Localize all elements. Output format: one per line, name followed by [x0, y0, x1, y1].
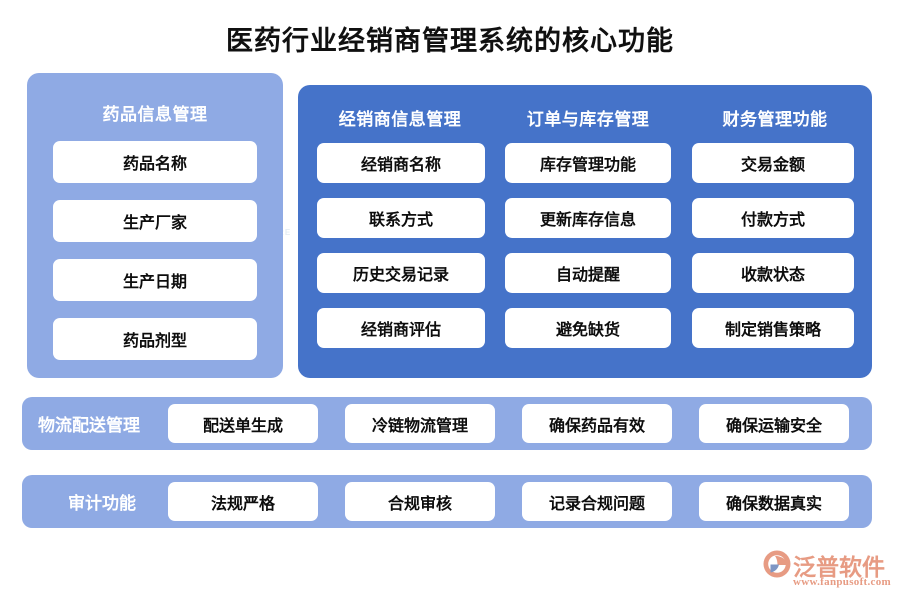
row-label-audit: 审计功能 [68, 475, 136, 528]
fanpu-logo-icon [762, 549, 792, 579]
card-manufacturer[interactable]: 生产厂家 [53, 200, 257, 242]
card-delivery-note[interactable]: 配送单生成 [168, 404, 318, 443]
card-sales-strategy[interactable]: 制定销售策略 [692, 308, 854, 348]
card-avoid-stockout[interactable]: 避免缺货 [505, 308, 671, 348]
card-drug-validity[interactable]: 确保药品有效 [522, 404, 672, 443]
card-auto-reminder[interactable]: 自动提醒 [505, 253, 671, 293]
card-transaction-amount[interactable]: 交易金额 [692, 143, 854, 183]
card-record-compliance-issue[interactable]: 记录合规问题 [522, 482, 672, 521]
footer-logo: 泛普软件 www.fanpusoft.com [762, 548, 894, 592]
card-strict-regulation[interactable]: 法规严格 [168, 482, 318, 521]
card-transaction-history[interactable]: 历史交易记录 [317, 253, 485, 293]
row-label-logistics: 物流配送管理 [38, 397, 140, 450]
card-inventory-management[interactable]: 库存管理功能 [505, 143, 671, 183]
panel-heading-finance: 财务管理功能 [682, 105, 868, 130]
card-update-inventory[interactable]: 更新库存信息 [505, 198, 671, 238]
infographic-canvas: 医药行业经销商管理系统的核心功能 泛普软件 FANPU SOFTWARE 药品信… [0, 0, 900, 600]
panel-heading-drug-info: 药品信息管理 [27, 100, 283, 125]
panel-heading-dealer-info: 经销商信息管理 [306, 105, 494, 130]
card-contact-method[interactable]: 联系方式 [317, 198, 485, 238]
card-receipt-status[interactable]: 收款状态 [692, 253, 854, 293]
card-payment-method[interactable]: 付款方式 [692, 198, 854, 238]
panel-drug-info[interactable]: 药品信息管理 药品名称 生产厂家 生产日期 药品剂型 [27, 73, 283, 378]
card-dealer-name[interactable]: 经销商名称 [317, 143, 485, 183]
card-data-authenticity[interactable]: 确保数据真实 [699, 482, 849, 521]
panel-heading-order-inventory: 订单与库存管理 [494, 105, 682, 130]
card-drug-name[interactable]: 药品名称 [53, 141, 257, 183]
footer-logo-url: www.fanpusoft.com [793, 576, 891, 588]
row-audit[interactable]: 审计功能 法规严格 合规审核 记录合规问题 确保数据真实 [22, 475, 872, 528]
card-dealer-evaluation[interactable]: 经销商评估 [317, 308, 485, 348]
card-transport-safety[interactable]: 确保运输安全 [699, 404, 849, 443]
page-title: 医药行业经销商管理系统的核心功能 [0, 19, 900, 58]
card-cold-chain[interactable]: 冷链物流管理 [345, 404, 495, 443]
card-production-date[interactable]: 生产日期 [53, 259, 257, 301]
row-logistics[interactable]: 物流配送管理 配送单生成 冷链物流管理 确保药品有效 确保运输安全 [22, 397, 872, 450]
panel-dark-group: 经销商信息管理 经销商名称 联系方式 历史交易记录 经销商评估 订单与库存管理 … [298, 85, 872, 378]
card-dosage-form[interactable]: 药品剂型 [53, 318, 257, 360]
card-compliance-review[interactable]: 合规审核 [345, 482, 495, 521]
